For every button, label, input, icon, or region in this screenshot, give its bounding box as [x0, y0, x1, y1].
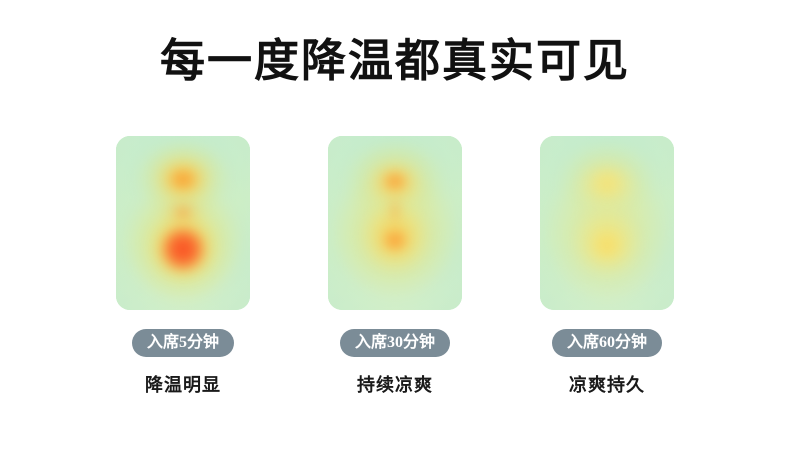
caption-60min: 凉爽持久	[569, 371, 645, 397]
thermal-card-60min: 入席60分钟 凉爽持久	[540, 136, 674, 397]
time-badge-60min: 入席60分钟	[552, 329, 662, 357]
thermal-edge-fade-5min	[116, 136, 250, 310]
caption-30min: 持续凉爽	[357, 371, 433, 397]
caption-5min: 降温明显	[145, 371, 221, 397]
promo-page: 每一度降温都真实可见 入席5分钟 降温明显 入席30分钟	[0, 0, 790, 471]
thermal-edge-fade-30min	[328, 136, 462, 310]
thermal-card-5min: 入席5分钟 降温明显	[116, 136, 250, 397]
time-badge-5min: 入席5分钟	[132, 329, 234, 357]
thermal-edge-fade-60min	[540, 136, 674, 310]
time-badge-30min: 入席30分钟	[340, 329, 450, 357]
thermal-image-60min	[540, 136, 674, 310]
thermal-card-30min: 入席30分钟 持续凉爽	[328, 136, 462, 397]
thermal-comparison-row: 入席5分钟 降温明显 入席30分钟 持续凉爽 入席6	[116, 136, 674, 397]
page-title: 每一度降温都真实可见	[0, 36, 790, 88]
thermal-image-5min	[116, 136, 250, 310]
thermal-image-30min	[328, 136, 462, 310]
